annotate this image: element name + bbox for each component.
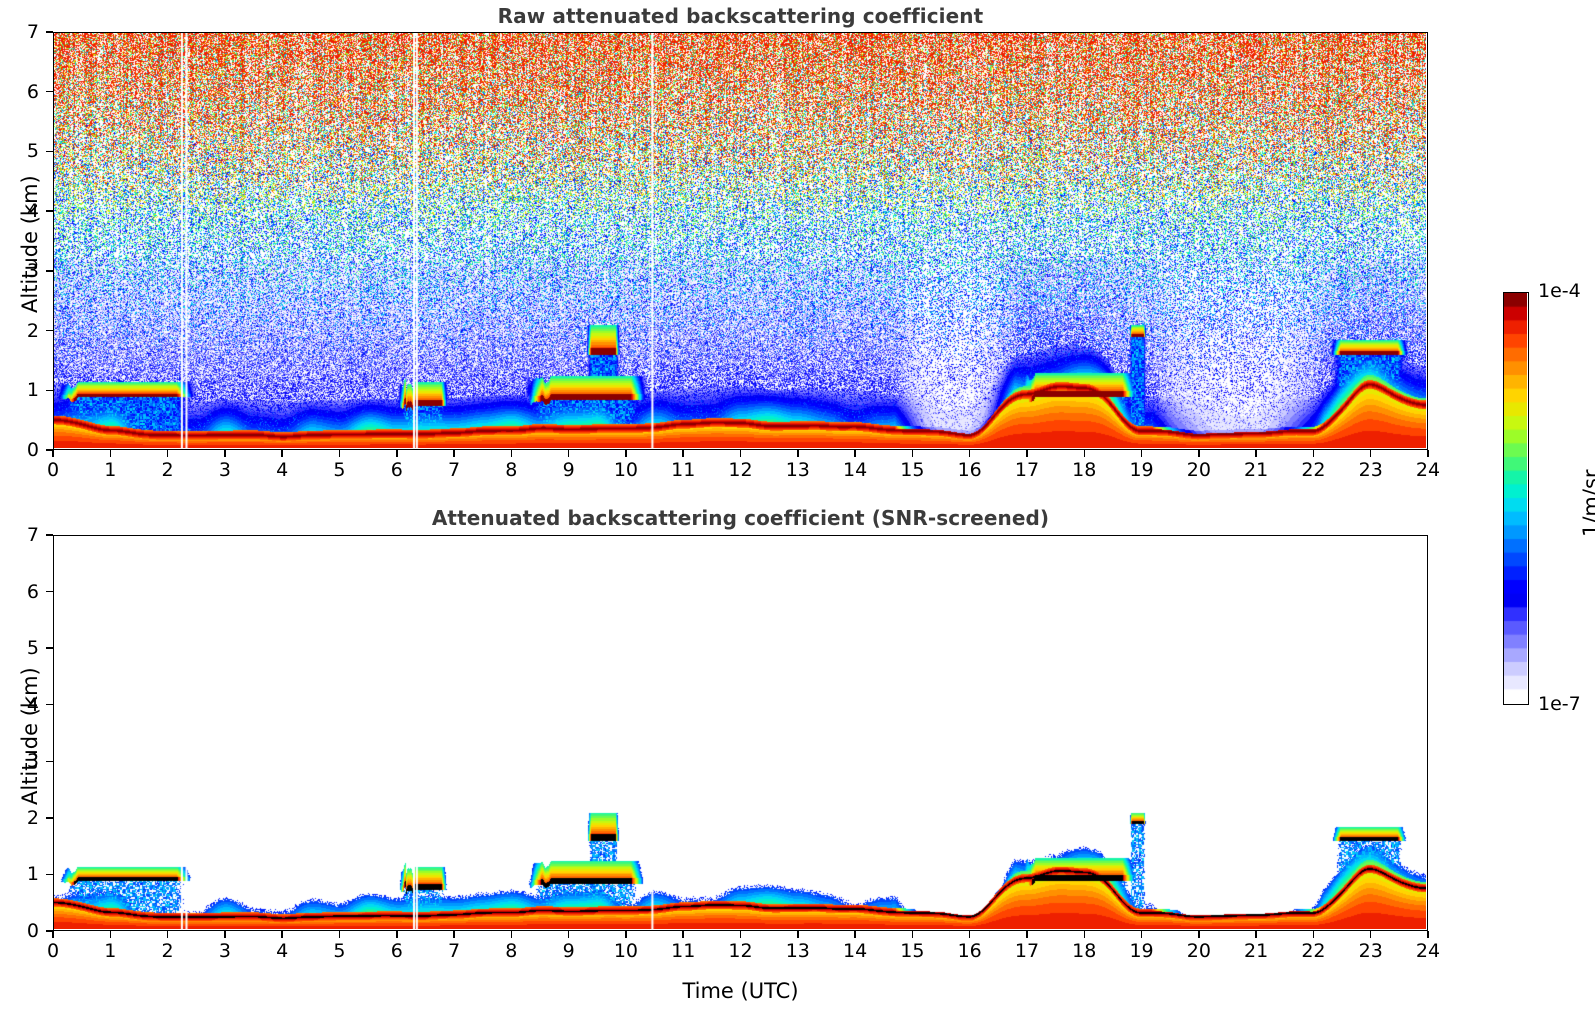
x-tick [1370,931,1372,938]
x-tick-label: 2 [148,942,188,961]
colorbar-unit-label: 1/m/sr [1579,469,1595,537]
x-tick-label: 1 [90,942,130,961]
x-tick-label: 16 [950,942,990,961]
x-tick-label: 7 [434,942,474,961]
x-tick [1427,931,1429,938]
x-tick-label: 19 [1122,942,1162,961]
x-tick [1313,931,1315,938]
plot-area-screened[interactable] [53,535,1428,931]
x-tick [568,931,570,938]
x-tick-label: 23 [1351,942,1391,961]
x-tick-label: 9 [549,942,589,961]
y-tick [46,930,53,932]
colorbar-gradient [1503,292,1529,705]
x-tick [1084,931,1086,938]
x-tick-label: 13 [778,942,818,961]
x-tick [52,931,54,938]
y-tick-label: 5 [5,639,39,658]
y-tick-label: 6 [5,583,39,602]
x-tick [1141,931,1143,938]
y-tick [46,761,53,763]
x-tick-label: 3 [205,942,245,961]
x-tick-label: 10 [606,942,646,961]
colorbar-max-label: 1e-4 [1538,282,1581,301]
x-tick [396,931,398,938]
y-tick [46,591,53,593]
x-tick-label: 20 [1179,942,1219,961]
y-tick [46,534,53,536]
x-tick [453,931,455,938]
x-tick [1255,931,1257,938]
x-tick-label: 6 [377,942,417,961]
y-tick-label: 2 [5,809,39,828]
x-tick [511,931,513,938]
x-tick-label: 14 [835,942,875,961]
x-tick-label: 22 [1293,942,1333,961]
x-tick [339,931,341,938]
x-axis-label: Time (UTC) [53,979,1428,1003]
y-tick-label: 0 [5,922,39,941]
x-tick [682,931,684,938]
x-tick [167,931,169,938]
y-tick [46,647,53,649]
y-tick [46,874,53,876]
y-tick-label: 1 [5,865,39,884]
x-tick-label: 8 [491,942,531,961]
x-tick [969,931,971,938]
x-tick [625,931,627,938]
x-tick-label: 18 [1064,942,1104,961]
x-tick-label: 4 [262,942,302,961]
x-tick [110,931,112,938]
x-tick-label: 12 [721,942,761,961]
x-tick [854,931,856,938]
x-tick-label: 21 [1236,942,1276,961]
y-tick [46,817,53,819]
x-tick [281,931,283,938]
y-axis-label-screened: Altitude (km) [18,667,42,805]
y-tick [46,704,53,706]
y-tick-label: 7 [5,526,39,545]
x-tick [797,931,799,938]
x-tick [1026,931,1028,938]
panel-screened-title: Attenuated backscattering coefficient (S… [53,506,1428,530]
x-tick-label: 17 [1007,942,1047,961]
x-tick [912,931,914,938]
x-tick-label: 0 [33,942,73,961]
x-tick-label: 11 [663,942,703,961]
x-tick-label: 5 [319,942,359,961]
lidar-backscatter-figure: Raw attenuated backscattering coefficien… [0,0,1595,1020]
panel-screened: Attenuated backscattering coefficient (S… [0,0,1595,1020]
x-tick [224,931,226,938]
x-tick [1198,931,1200,938]
colorbar-min-label: 1e-7 [1538,695,1581,714]
x-tick-label: 24 [1408,942,1448,961]
x-tick [740,931,742,938]
x-tick-label: 15 [892,942,932,961]
